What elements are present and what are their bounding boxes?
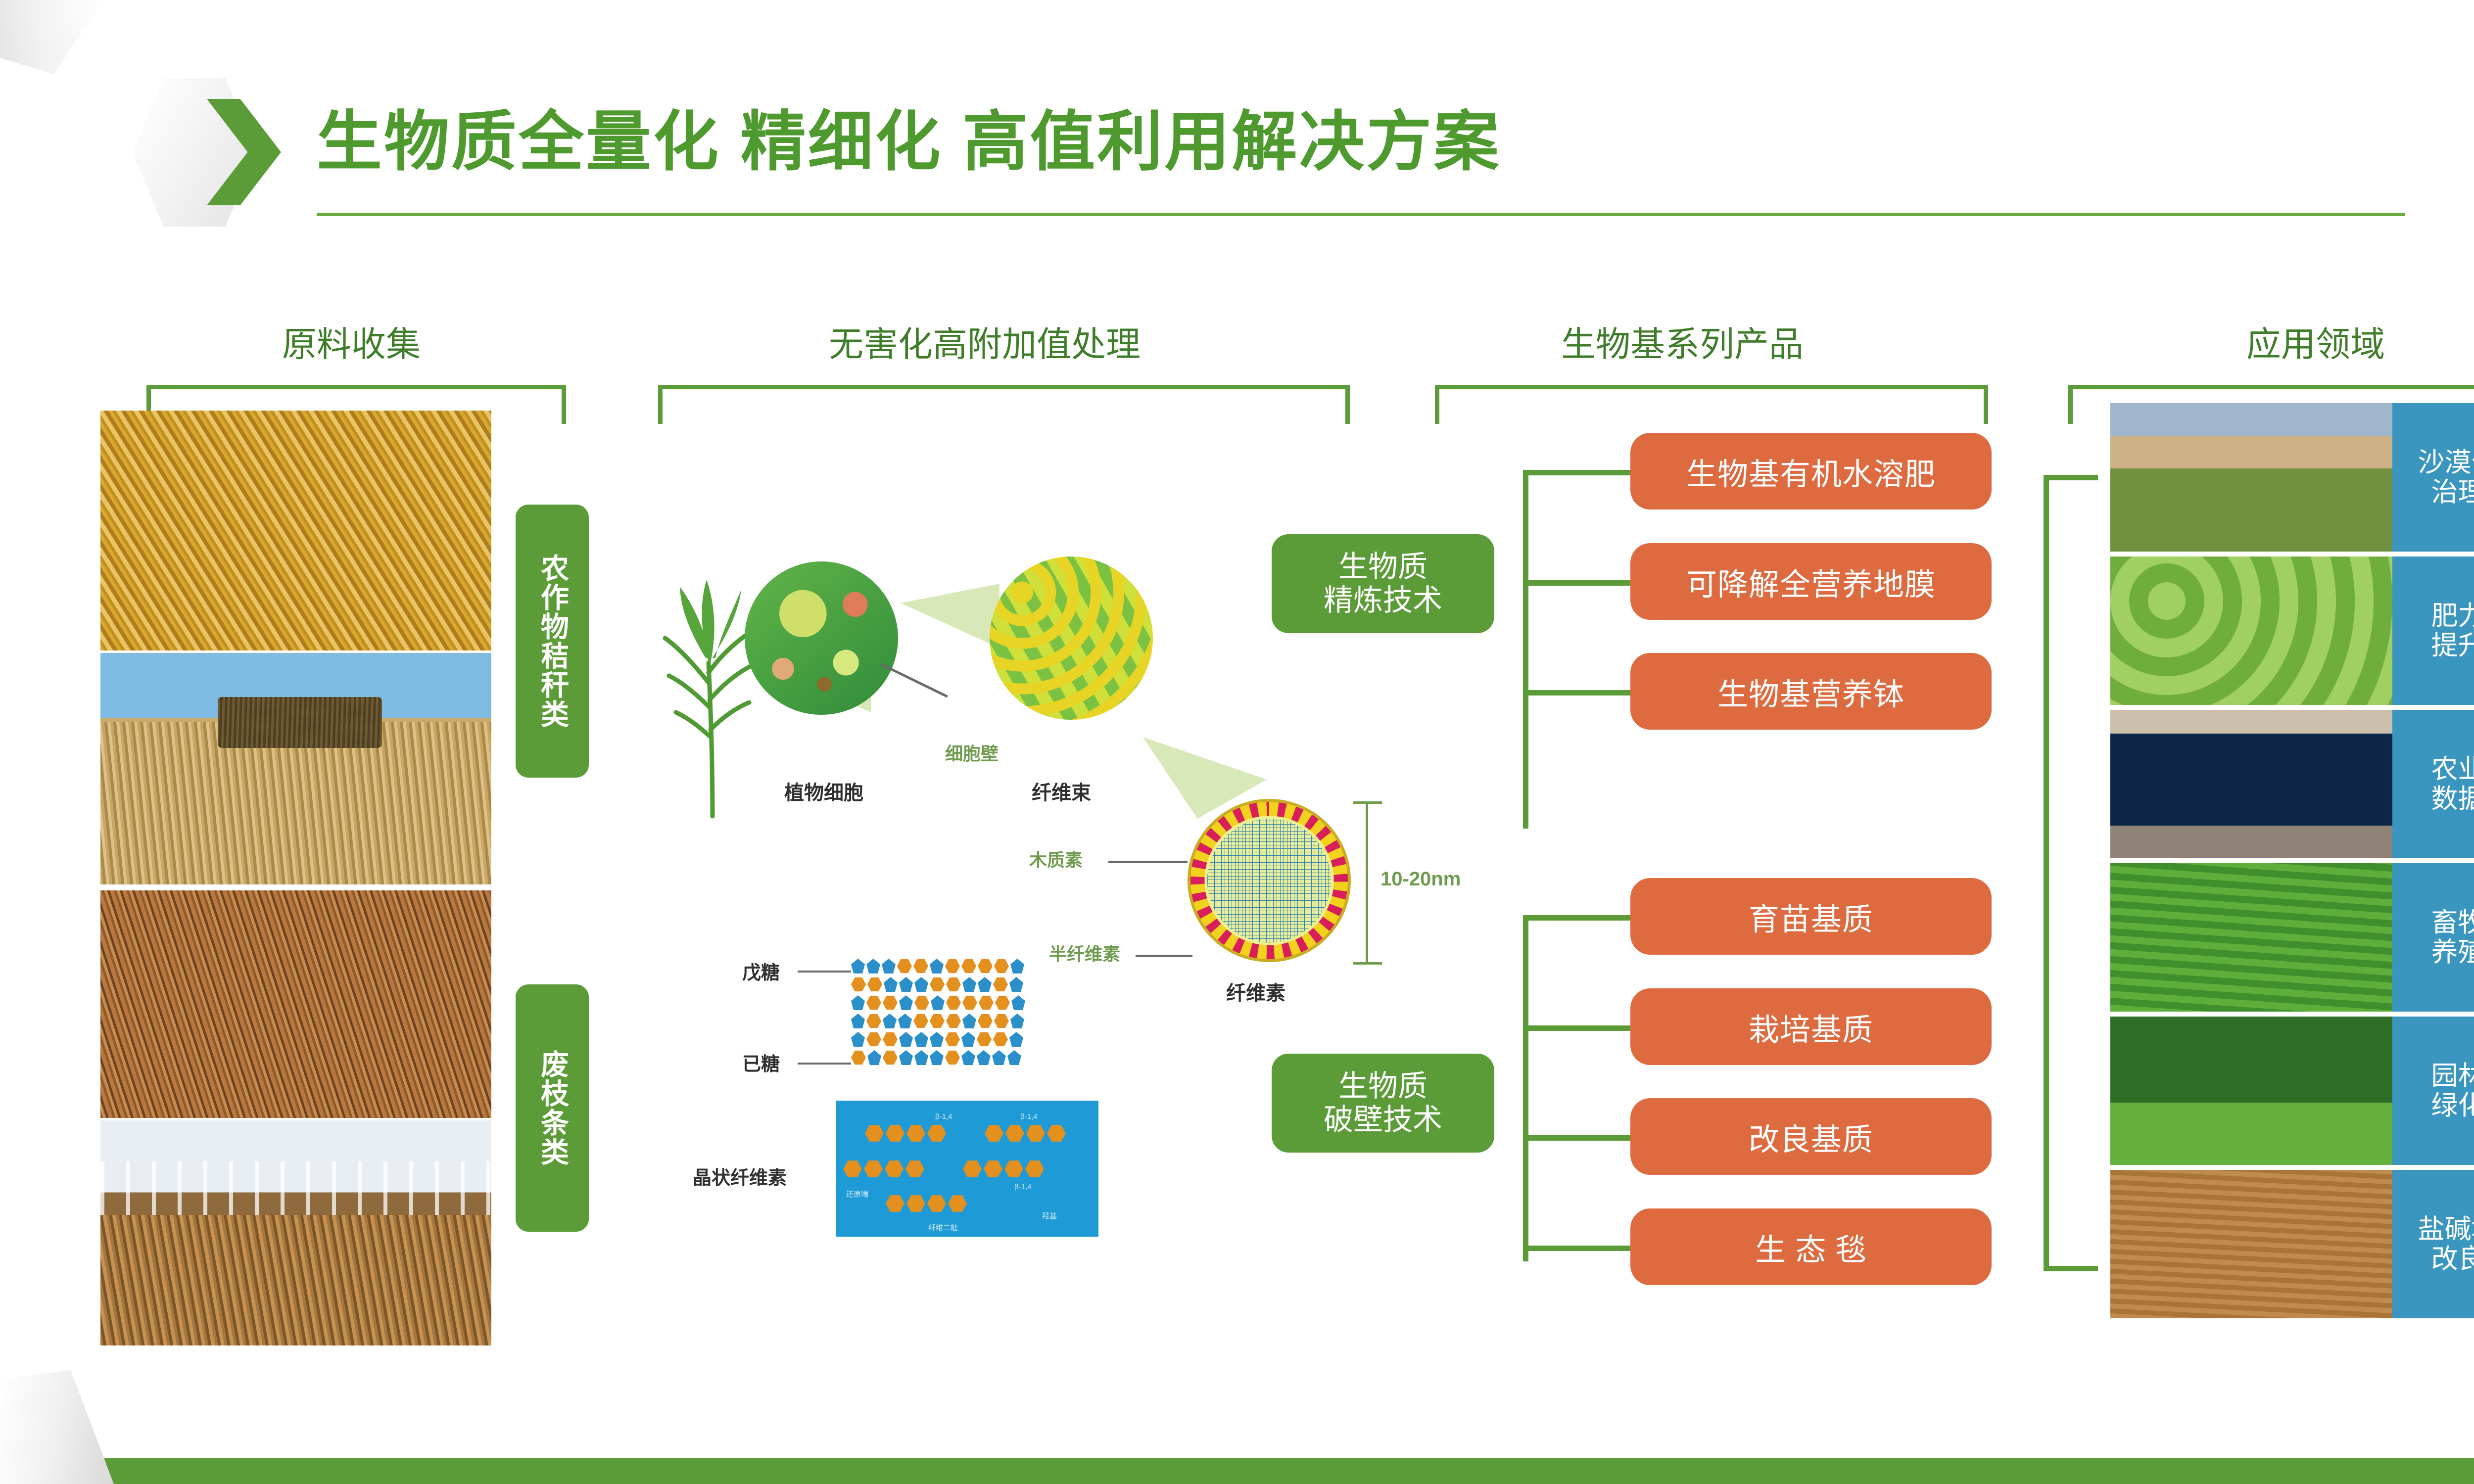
product-cultivation-substrate[interactable]: 栽培基质 xyxy=(1630,988,1992,1065)
app-livestock-line1: 畜牧 xyxy=(2431,908,2474,937)
section-header-process: 无害化高附加值处理 xyxy=(643,317,1326,367)
crystal-reducing-end-label: 还原端 xyxy=(846,1189,868,1199)
section-header-products: 生物基系列产品 xyxy=(1385,317,1979,367)
application-row-agri-data[interactable]: 农业 数据 xyxy=(2110,710,2474,858)
orchard-pruning-photo xyxy=(100,1120,491,1345)
app-data-line2: 数据 xyxy=(2431,784,2474,814)
pentose-leader-line xyxy=(798,971,851,973)
cell-wall-leader-line xyxy=(880,663,948,697)
crystal-bond-label-3: β-1,4 xyxy=(1014,1183,1031,1191)
header-corner-decoration xyxy=(0,0,104,74)
application-label-agri-data: 农业 数据 xyxy=(2392,710,2474,858)
section-header-apps: 应用领域 xyxy=(2053,317,2474,367)
application-row-desert[interactable]: 沙漠化 治理 xyxy=(2110,403,2474,552)
fiber-bundle-label: 纤维束 xyxy=(1032,777,1091,805)
application-row-saline-alkali[interactable]: 盐碱地 改良 xyxy=(2110,1170,2474,1318)
application-label-desert: 沙漠化 治理 xyxy=(2392,403,2474,552)
dry-branches-photo xyxy=(100,890,491,1118)
product-degradable-mulch-film[interactable]: 可降解全营养地膜 xyxy=(1630,543,1992,620)
crystal-bond-label-2: β-1,4 xyxy=(1020,1113,1037,1121)
tech-breaking-line2: 破壁技术 xyxy=(1324,1103,1442,1137)
arrow-trunk-a xyxy=(1523,470,1528,829)
corn-stover-photo xyxy=(100,411,491,650)
sugar-chain-diagram xyxy=(851,959,1025,1068)
dimension-label: 10-20nm xyxy=(1380,868,1461,890)
footer-bar xyxy=(99,1458,2474,1484)
footer-corner-decoration xyxy=(0,1370,114,1484)
dimension-tick-bottom xyxy=(1353,962,1382,965)
tech-pill-refining[interactable]: 生物质 精炼技术 xyxy=(1272,534,1494,633)
dimension-tick-top xyxy=(1353,801,1382,804)
apps-connector-trunk xyxy=(2044,475,2049,1271)
cabbage-field-photo xyxy=(2110,556,2392,705)
arrow-trunk-b xyxy=(1523,915,1528,1261)
hemicellulose-label: 半纤维素 xyxy=(1049,940,1120,966)
data-control-room-photo xyxy=(2110,710,2392,858)
cellulose-core xyxy=(1207,819,1331,942)
fan-connector-2 xyxy=(901,584,999,648)
application-row-fertility[interactable]: 肥力 提升 xyxy=(2110,556,2474,705)
plant-cell-label: 植物细胞 xyxy=(784,777,863,805)
page-title: 生物质全量化 精细化 高值利用解决方案 xyxy=(317,89,1501,184)
app-livestock-line2: 养殖 xyxy=(2431,937,2474,967)
hemicellulose-leader-line xyxy=(1136,955,1192,957)
category-crop-straw[interactable]: 农作物秸秆类 xyxy=(516,505,589,778)
desert-restoration-photo xyxy=(2110,403,2392,552)
application-row-landscaping[interactable]: 园林 绿化 xyxy=(2110,1017,2474,1165)
pentose-label: 戊糖 xyxy=(742,957,780,984)
app-data-line1: 农业 xyxy=(2431,754,2474,784)
bracket-products xyxy=(1435,385,1988,424)
hexagon-chevron-logo xyxy=(133,78,281,227)
plant-cell-illustration xyxy=(745,561,898,715)
fiber-bundle-illustration xyxy=(990,556,1153,720)
app-desert-line2: 治理 xyxy=(2431,477,2474,507)
cell-wall-label: 细胞壁 xyxy=(945,740,999,765)
product-organic-water-soluble-fertilizer[interactable]: 生物基有机水溶肥 xyxy=(1630,433,1992,510)
crystal-bond-label-1: β-1,4 xyxy=(935,1113,952,1121)
apps-connector-top xyxy=(2044,475,2098,480)
tech-pill-cellwall-breaking[interactable]: 生物质 破壁技术 xyxy=(1272,1054,1494,1153)
app-fertility-line2: 提升 xyxy=(2431,631,2474,660)
app-garden-line2: 绿化 xyxy=(2431,1091,2474,1120)
app-saline-line1: 盐碱地 xyxy=(2418,1214,2474,1244)
application-label-saline-alkali: 盐碱地 改良 xyxy=(2392,1170,2474,1318)
application-label-landscaping: 园林 绿化 xyxy=(2392,1017,2474,1165)
product-ecological-blanket[interactable]: 生 态 毯 xyxy=(1630,1208,1992,1285)
baled-straw-field-photo xyxy=(100,653,491,884)
app-garden-line1: 园林 xyxy=(2431,1061,2474,1091)
dimension-bar xyxy=(1366,801,1368,965)
application-label-fertility: 肥力 提升 xyxy=(2392,556,2474,705)
product-seedling-substrate[interactable]: 育苗基质 xyxy=(1630,878,1992,955)
application-row-livestock[interactable]: 畜牧 养殖 xyxy=(2110,863,2474,1012)
section-header-raw: 原料收集 xyxy=(129,317,574,367)
app-desert-line1: 沙漠化 xyxy=(2418,448,2474,477)
landscape-trees-photo xyxy=(2110,1017,2392,1165)
lignin-leader-line xyxy=(1108,861,1188,863)
cellulose-label: 纤维素 xyxy=(1226,977,1285,1006)
app-fertility-line1: 肥力 xyxy=(2431,601,2474,631)
grazing-sheep-photo xyxy=(2110,863,2392,1012)
hexose-leader-line xyxy=(798,1063,851,1065)
bracket-process xyxy=(658,385,1350,424)
crystal-cellobiose-label: 纤维二糖 xyxy=(928,1222,958,1233)
apps-connector-bottom xyxy=(2044,1266,2098,1271)
saline-alkali-land-photo xyxy=(2110,1170,2392,1318)
crystal-hydroxyl-label: 羟基 xyxy=(1042,1210,1057,1221)
application-label-livestock: 畜牧 养殖 xyxy=(2392,863,2474,1012)
tech-refining-line1: 生物质 xyxy=(1338,550,1427,584)
category-waste-branches[interactable]: 废枝条类 xyxy=(516,984,589,1232)
lignin-label: 木质素 xyxy=(1029,846,1083,872)
product-improvement-substrate[interactable]: 改良基质 xyxy=(1630,1098,1992,1175)
crystalline-cellulose-label: 晶状纤维素 xyxy=(693,1162,787,1190)
product-biobased-nutrition-pot[interactable]: 生物基营养钵 xyxy=(1630,653,1992,730)
crystalline-cellulose-diagram: β-1,4 β-1,4 β-1,4 还原端 纤维二糖 羟基 xyxy=(836,1101,1098,1237)
title-underline xyxy=(317,213,2405,216)
hexose-label: 已糖 xyxy=(742,1049,780,1076)
tech-refining-line2: 精炼技术 xyxy=(1324,584,1442,617)
tech-breaking-line1: 生物质 xyxy=(1338,1069,1427,1103)
app-saline-line2: 改良 xyxy=(2431,1244,2474,1274)
